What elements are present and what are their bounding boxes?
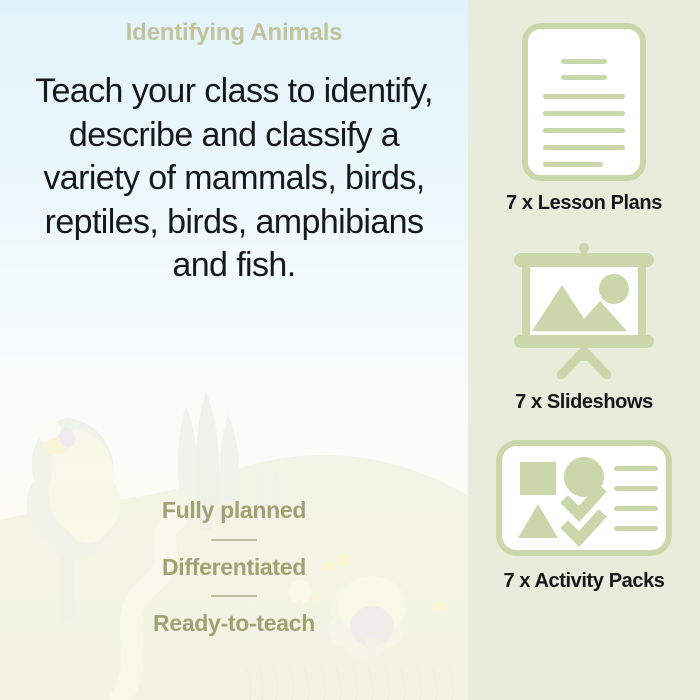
document-icon (522, 23, 646, 181)
feature-list: Fully planned Differentiated Ready-to-te… (22, 497, 446, 638)
feature-item-differentiated: Differentiated (22, 554, 446, 582)
poster-canvas: Identifying Animals Teach your class to … (0, 0, 700, 700)
activity-card-icon (496, 440, 672, 556)
presentation-screen-icon (509, 239, 659, 379)
document-icon-wrap (522, 18, 646, 186)
resource-item-activity-packs: 7 x Activity Packs (468, 432, 700, 593)
left-panel: Identifying Animals Teach your class to … (0, 0, 468, 700)
resources-panel: 7 x Lesson Plans (468, 0, 700, 700)
resource-item-slideshows: 7 x Slideshows (468, 233, 700, 414)
feature-divider (211, 539, 257, 541)
body-description: Teach your class to identify, describe a… (28, 70, 440, 288)
resource-caption-lesson-plans: 7 x Lesson Plans (506, 192, 662, 215)
resource-caption-slideshows: 7 x Slideshows (515, 391, 653, 414)
resource-caption-activity-packs: 7 x Activity Packs (503, 570, 664, 593)
activity-icon-wrap (496, 432, 672, 564)
left-content: Identifying Animals Teach your class to … (0, 0, 468, 700)
feature-item-fully-planned: Fully planned (22, 497, 446, 525)
presentation-icon-wrap (509, 233, 659, 385)
feature-item-ready-to-teach: Ready-to-teach (22, 610, 446, 638)
feature-divider (211, 595, 257, 597)
resource-item-lesson-plans: 7 x Lesson Plans (468, 18, 700, 215)
page-title: Identifying Animals (22, 20, 446, 46)
